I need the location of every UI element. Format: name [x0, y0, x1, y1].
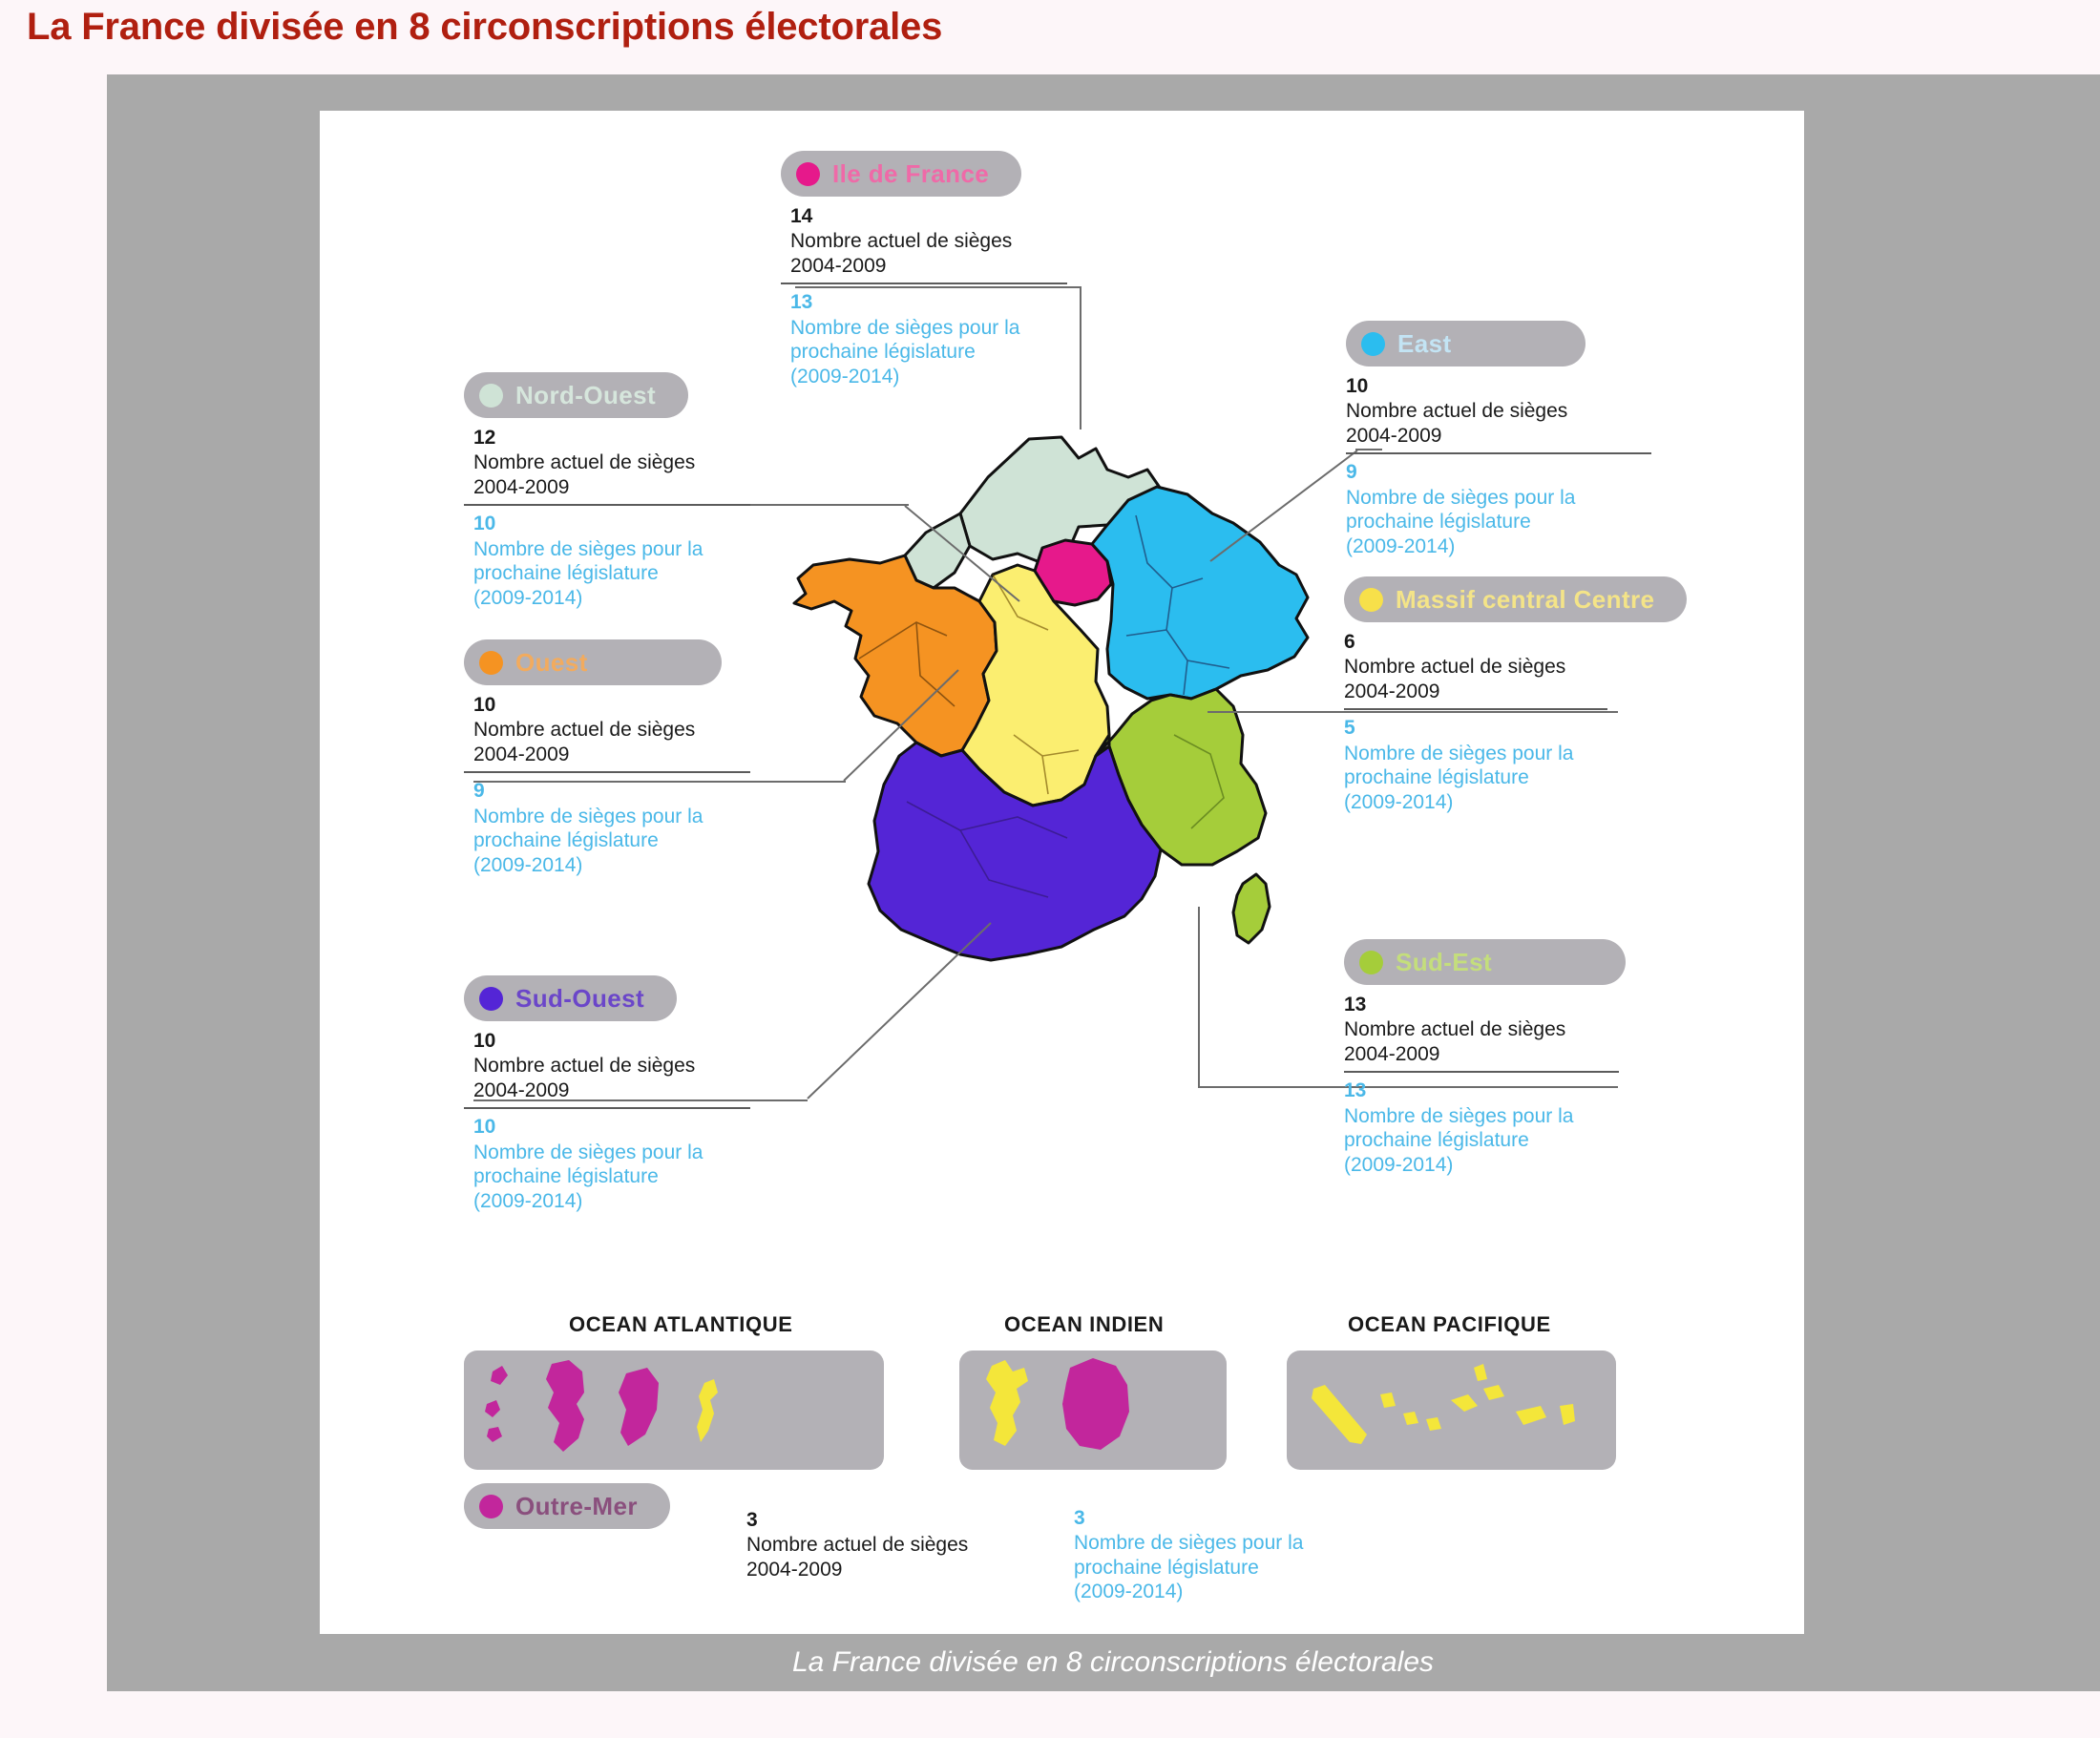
current-seats-value: 6: [1344, 630, 1688, 655]
stat-divider: [464, 1107, 750, 1109]
stat-current-outre-mer: 3 Nombre actuel de sièges 2004-2009: [746, 1508, 968, 1581]
region-name-ouest: Ouest: [515, 648, 588, 678]
current-seats-value: 13: [1344, 993, 1669, 1017]
current-seats-label: Nombre actuel de sièges 2004-2009: [746, 1533, 968, 1581]
stat-current-ile-de-france: 14 Nombre actuel de sièges 2004-2009: [781, 204, 1067, 278]
callout-nord-ouest: Nord-Ouest 12 Nombre actuel de sièges 20…: [464, 372, 750, 611]
next-seats-value: 5: [1344, 716, 1688, 741]
callout-east: East 10 Nombre actuel de sièges 2004-200…: [1346, 321, 1651, 559]
stat-next-ouest: 9 Nombre de sièges pour la prochaine lég…: [464, 779, 750, 877]
region-name-sud-est: Sud-Est: [1396, 948, 1492, 977]
next-seats-label: Nombre de sièges pour la prochaine légis…: [790, 316, 1067, 389]
outre-mer-color-dot: [479, 1495, 503, 1518]
stat-divider: [781, 283, 1067, 284]
stat-next-ile-de-france: 13 Nombre de sièges pour la prochaine lé…: [781, 290, 1067, 388]
next-seats-label: Nombre de sièges pour la prochaine légis…: [473, 805, 750, 878]
stat-next-east: 9 Nombre de sièges pour la prochaine lég…: [1346, 460, 1651, 558]
stat-divider: [1346, 452, 1651, 454]
page-title: La France divisée en 8 circonscriptions …: [27, 6, 942, 49]
stat-current-nord-ouest: 12 Nombre actuel de sièges 2004-2009: [464, 426, 750, 499]
next-seats-value: 13: [790, 290, 1067, 315]
next-seats-label: Nombre de sièges pour la prochaine légis…: [1344, 742, 1688, 815]
region-pill-outre-mer[interactable]: Outre-Mer: [464, 1483, 670, 1529]
current-seats-label: Nombre actuel de sièges 2004-2009: [790, 229, 1067, 278]
region-name-massif-central-centre: Massif central Centre: [1396, 585, 1654, 615]
current-seats-label: Nombre actuel de sièges 2004-2009: [473, 450, 750, 499]
callout-sud-est: Sud-Est 13 Nombre actuel de sièges 2004-…: [1344, 939, 1669, 1178]
region-name-ile-de-france: Ile de France: [832, 159, 989, 189]
ocean-box-indien[interactable]: [959, 1351, 1227, 1470]
stat-current-massif: 6 Nombre actuel de sièges 2004-2009: [1344, 630, 1688, 703]
callout-massif-central-centre: Massif central Centre 6 Nombre actuel de…: [1344, 576, 1688, 815]
current-seats-value: 3: [746, 1508, 968, 1533]
connector-ouest-diag: [840, 668, 964, 785]
region-pill-nord-ouest[interactable]: Nord-Ouest: [464, 372, 688, 418]
ouest-color-dot: [479, 651, 503, 675]
current-seats-value: 12: [473, 426, 750, 450]
current-seats-label: Nombre actuel de sièges 2004-2009: [473, 1054, 750, 1102]
region-pill-ouest[interactable]: Ouest: [464, 639, 722, 685]
stat-next-nord-ouest: 10 Nombre de sièges pour la prochaine lé…: [464, 512, 750, 610]
current-seats-label: Nombre actuel de sièges 2004-2009: [1344, 655, 1688, 703]
connector-sud-est-v: [1198, 907, 1200, 1088]
region-name-nord-ouest: Nord-Ouest: [515, 381, 656, 410]
current-seats-value: 10: [473, 693, 750, 718]
stat-next-massif: 5 Nombre de sièges pour la prochaine lég…: [1344, 716, 1688, 814]
east-color-dot: [1361, 332, 1385, 356]
callout-sud-ouest: Sud-Ouest 10 Nombre actuel de sièges 200…: [464, 975, 750, 1214]
callout-ile-de-france: Ile de France 14 Nombre actuel de sièges…: [781, 151, 1067, 389]
region-name-sud-ouest: Sud-Ouest: [515, 984, 644, 1014]
region-pill-massif-central-centre[interactable]: Massif central Centre: [1344, 576, 1687, 622]
region-pill-sud-est[interactable]: Sud-Est: [1344, 939, 1626, 985]
next-seats-label: Nombre de sièges pour la prochaine légis…: [1346, 486, 1651, 559]
ocean-islands-pacifique: [1287, 1351, 1616, 1470]
stat-current-sud-ouest: 10 Nombre actuel de sièges 2004-2009: [464, 1029, 750, 1102]
stat-divider: [1344, 1071, 1619, 1073]
stat-next-sud-est: 13 Nombre de sièges pour la prochaine lé…: [1344, 1078, 1669, 1177]
current-seats-value: 10: [473, 1029, 750, 1054]
ocean-title-atlantique: OCEAN ATLANTIQUE: [569, 1312, 792, 1337]
region-name-east: East: [1397, 329, 1452, 359]
current-seats-value: 14: [790, 204, 1067, 229]
ocean-islands-atlantique: [464, 1351, 884, 1470]
page-root: La France divisée en 8 circonscriptions …: [0, 0, 2100, 1738]
stat-next-outre-mer: 3 Nombre de sièges pour la prochaine lég…: [1074, 1506, 1303, 1604]
ile-de-france-color-dot: [796, 162, 820, 186]
stat-divider: [464, 504, 750, 506]
next-seats-label: Nombre de sièges pour la prochaine légis…: [1074, 1531, 1303, 1604]
current-seats-label: Nombre actuel de sièges 2004-2009: [473, 718, 750, 766]
stat-divider: [1344, 708, 1607, 710]
sud-est-color-dot: [1359, 951, 1383, 974]
region-name-outre-mer: Outre-Mer: [515, 1492, 638, 1521]
next-seats-value: 10: [473, 512, 750, 536]
region-pill-sud-ouest[interactable]: Sud-Ouest: [464, 975, 677, 1021]
ocean-title-pacifique: OCEAN PACIFIQUE: [1348, 1312, 1551, 1337]
region-pill-ile-de-france[interactable]: Ile de France: [781, 151, 1021, 197]
current-seats-label: Nombre actuel de sièges 2004-2009: [1346, 399, 1651, 448]
nord-ouest-color-dot: [479, 384, 503, 408]
stat-current-sud-est: 13 Nombre actuel de sièges 2004-2009: [1344, 993, 1669, 1066]
current-seats-value: 10: [1346, 374, 1651, 399]
region-pill-east[interactable]: East: [1346, 321, 1585, 366]
stat-next-sud-ouest: 10 Nombre de sièges pour la prochaine lé…: [464, 1115, 750, 1213]
stat-divider: [464, 771, 750, 773]
callout-outre-mer: Outre-Mer: [464, 1483, 741, 1529]
next-seats-label: Nombre de sièges pour la prochaine légis…: [1344, 1104, 1669, 1178]
next-seats-value: 9: [1346, 460, 1651, 485]
connector-sud-ouest-diag: [804, 921, 995, 1102]
next-seats-label: Nombre de sièges pour la prochaine légis…: [473, 537, 750, 611]
map-region-corsica[interactable]: [1233, 874, 1270, 943]
callout-ouest: Ouest 10 Nombre actuel de sièges 2004-20…: [464, 639, 750, 878]
figure-caption: La France divisée en 8 circonscriptions …: [107, 1634, 2100, 1691]
ocean-islands-indien: [959, 1351, 1227, 1470]
next-seats-value: 9: [473, 779, 750, 804]
stat-current-east: 10 Nombre actuel de sièges 2004-2009: [1346, 374, 1651, 448]
connector-ile-de-france-v: [1080, 286, 1081, 429]
connector-east-diag: [1208, 449, 1361, 563]
ocean-title-indien: OCEAN INDIEN: [1004, 1312, 1164, 1337]
current-seats-label: Nombre actuel de sièges 2004-2009: [1344, 1017, 1669, 1066]
next-seats-value: 13: [1344, 1078, 1669, 1103]
next-seats-value: 10: [473, 1115, 750, 1140]
stat-current-ouest: 10 Nombre actuel de sièges 2004-2009: [464, 693, 750, 766]
sud-ouest-color-dot: [479, 987, 503, 1011]
next-seats-label: Nombre de sièges pour la prochaine légis…: [473, 1141, 750, 1214]
ocean-box-atlantique[interactable]: [464, 1351, 884, 1470]
next-seats-value: 3: [1074, 1506, 1303, 1531]
ocean-box-pacifique[interactable]: [1287, 1351, 1616, 1470]
massif-central-centre-color-dot: [1359, 588, 1383, 612]
connector-nord-ouest-diag: [903, 504, 1027, 609]
